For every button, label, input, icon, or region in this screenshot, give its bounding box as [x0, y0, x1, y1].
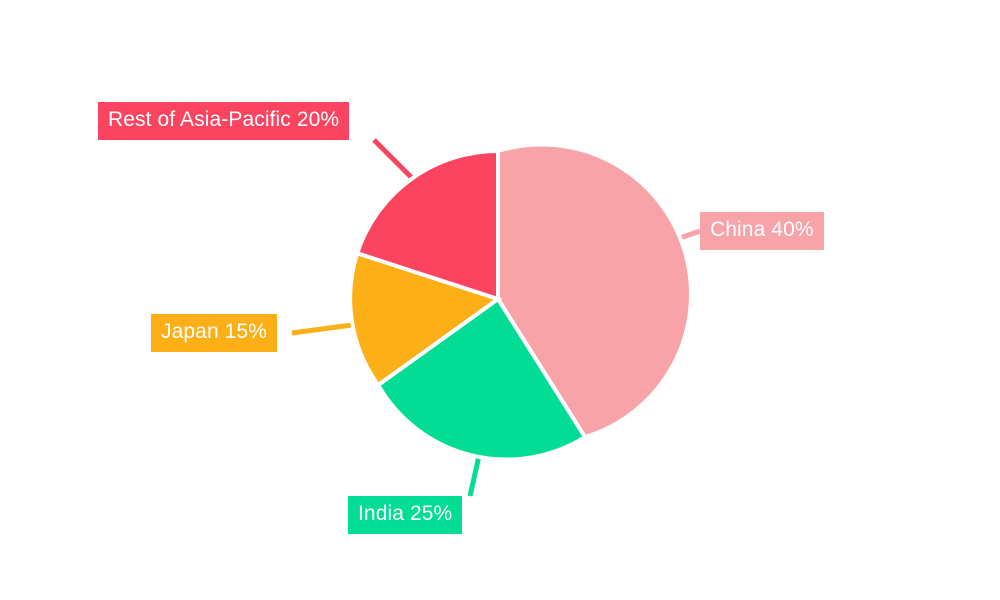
- pie-label-india[interactable]: India 25%: [348, 496, 462, 534]
- pie-label-text: China 40%: [710, 215, 814, 245]
- pie-label-japan[interactable]: Japan 15%: [151, 314, 277, 352]
- pie-chart-figure: Rest of Asia-Pacific 20% China 40% Japan…: [0, 0, 1000, 600]
- pie-label-text: Rest of Asia-Pacific 20%: [108, 105, 339, 135]
- pie-label-text: India 25%: [358, 499, 452, 529]
- pie-chart-canvas: [0, 0, 1000, 600]
- pie-label-rest-of-asia-pacific[interactable]: Rest of Asia-Pacific 20%: [98, 102, 349, 140]
- pie-label-text: Japan 15%: [161, 317, 267, 347]
- leader-line-japan: [292, 325, 352, 333]
- leader-line-rest-of-asia-pacific: [374, 140, 414, 180]
- pie-label-china[interactable]: China 40%: [700, 212, 824, 250]
